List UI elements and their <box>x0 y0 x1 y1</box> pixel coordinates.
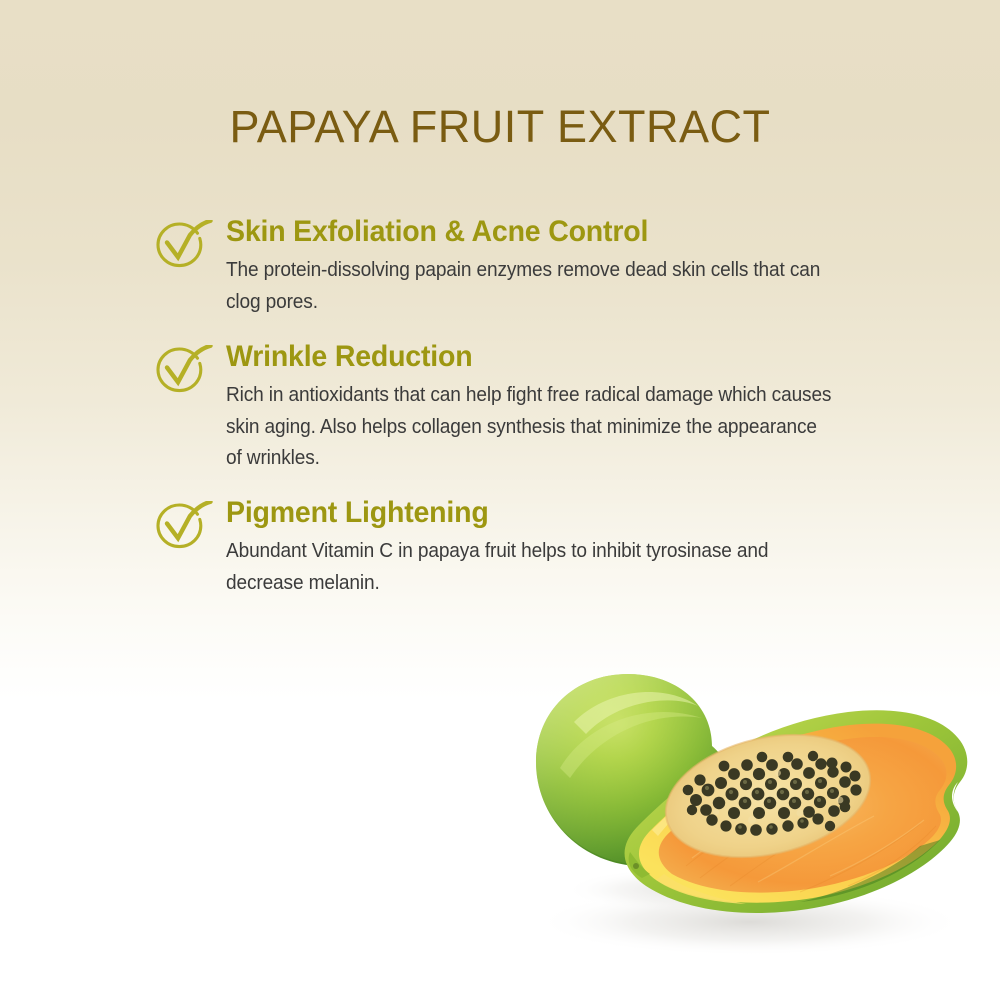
benefit-body: Rich in antioxidants that can help fight… <box>226 380 837 475</box>
check-circle-icon <box>150 220 216 278</box>
benefit-title: Skin Exfoliation & Acne Control <box>226 216 857 248</box>
page-title: PAPAYA FRUIT EXTRACT <box>0 104 1000 149</box>
benefit-item: Wrinkle Reduction Rich in antioxidants t… <box>150 341 890 475</box>
papaya-infographic: PAPAYA FRUIT EXTRACT Skin Exfoliation & … <box>0 0 1000 1000</box>
check-circle-icon <box>150 345 216 403</box>
benefit-list: Skin Exfoliation & Acne Control The prot… <box>150 216 890 599</box>
benefit-item: Pigment Lightening Abundant Vitamin C in… <box>150 497 890 600</box>
papaya-fruit-image <box>500 650 1000 990</box>
benefit-item: Skin Exfoliation & Acne Control The prot… <box>150 216 890 319</box>
benefit-body: The protein-dissolving papain enzymes re… <box>226 255 837 318</box>
check-circle-icon <box>150 501 216 559</box>
benefit-title: Wrinkle Reduction <box>226 341 857 373</box>
benefit-body: Abundant Vitamin C in papaya fruit helps… <box>226 536 837 599</box>
benefit-title: Pigment Lightening <box>226 497 857 529</box>
